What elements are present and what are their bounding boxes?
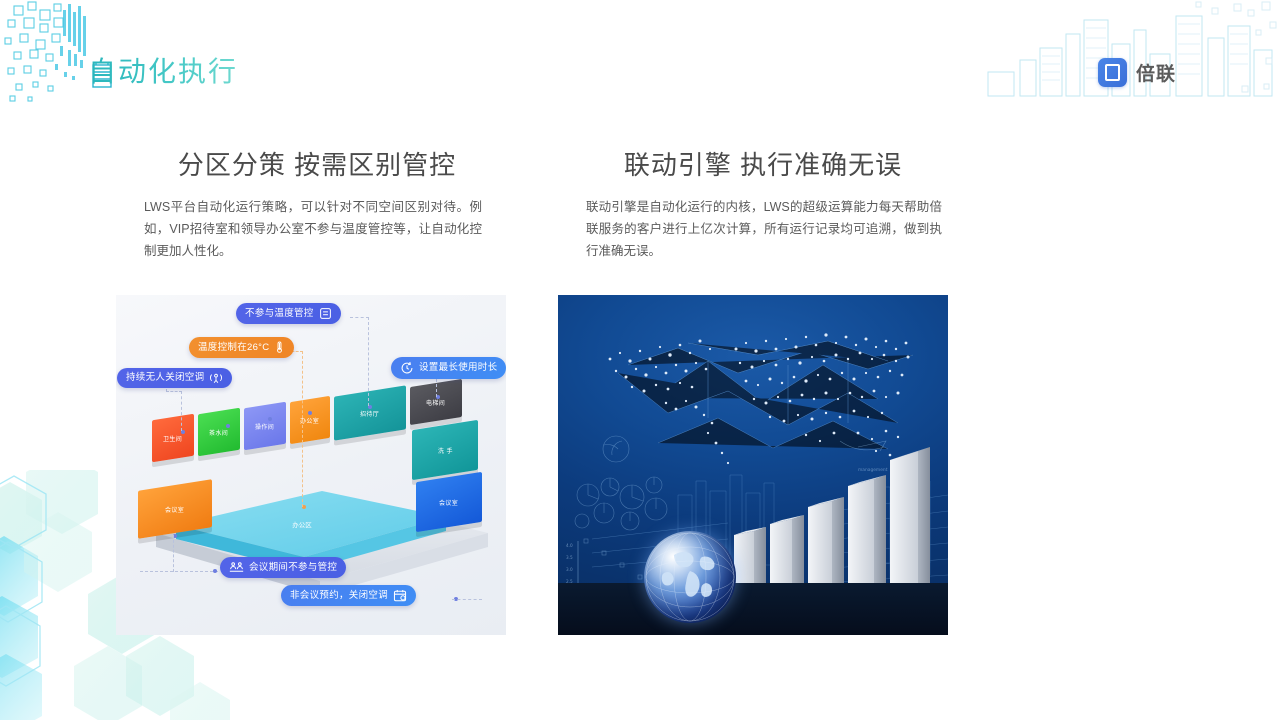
tag-no-booking-ac-off[interactable]: 非会议预约，关闭空调 [281,585,416,606]
tag-unattended-ac-off[interactable]: 持续无人关闭空调 [117,368,232,388]
floorplan-infographic: 办公区 卫生间 茶水间 操作间 办公室 招待厅 电梯间 洗 手 会议室 会议室 [116,295,506,635]
leader-line [166,391,182,392]
thermometer-icon [274,341,285,354]
tag-label: 非会议预约，关闭空调 [290,591,388,601]
tag-temperature-26c[interactable]: 温度控制在26°C [189,337,294,358]
tag-label: 设置最长使用时长 [419,363,497,373]
leader-line-orange [302,351,303,507]
meeting-icon [229,561,244,574]
tag-no-temperature-control[interactable]: 不参与温度管控 [236,303,341,324]
tag-label: 会议期间不参与管控 [249,563,337,573]
column-right-heading: 联动引擎 执行准确无误 [558,150,950,181]
motion-sensor-icon [209,372,223,384]
leader-line [452,599,482,600]
globe-3d [644,531,736,623]
photo-ground-plane [558,583,948,635]
column-left-heading: 分区分策 按需区别管控 [116,150,508,181]
global-data-network-photo: 4.03.53.0 2.52.01.5 1.0 management [558,295,948,635]
tag-label: 持续无人关闭空调 [126,373,204,383]
leader-dot [213,569,217,573]
tag-label: 不参与温度管控 [245,309,314,319]
room-label: 电梯间 [426,398,445,407]
leader-line [436,379,437,397]
column-right-body: 联动引擎是自动化运行的内核，LWS的超级运算能力每天帮助倍联服务的客户进行上亿次… [558,197,950,263]
svg-text:办公区: 办公区 [292,520,312,529]
room-label: 卫生间 [163,434,182,443]
tag-max-usage-time[interactable]: 设置最长使用时长 [391,357,506,379]
leader-dot [226,424,230,428]
brand-name: 倍联 [1136,59,1176,86]
page-title: 自动化执行 [88,50,238,90]
room-restroom: 卫生间 [152,414,194,463]
room-lobby: 洗 手 [412,420,478,480]
leader-line [173,535,174,572]
leader-line [368,317,369,406]
room-tearoom: 茶水间 [198,408,240,457]
column-right: 联动引擎 执行准确无误 联动引擎是自动化运行的内核，LWS的超级运算能力每天帮助… [558,150,950,263]
brand-logo: 倍联 [1098,58,1176,87]
room-meeting-right: 会议室 [416,472,482,532]
tag-meeting-exempt[interactable]: 会议期间不参与管控 [220,557,346,578]
column-left-body: LWS平台自动化运行策略，可以针对不同空间区别对待。例如，VIP招待室和领导办公… [116,197,508,263]
leader-dot [268,417,272,421]
calendar-icon [393,589,407,602]
square-logo-icon [1098,58,1127,87]
tag-label: 温度控制在26°C [198,343,269,353]
timer-icon [400,361,414,375]
leader-line [350,317,369,318]
room-label: 会议室 [439,498,458,507]
leader-dot [308,411,312,415]
page-header: 自动化执行 倍联 [0,0,1280,115]
room-office: 办公室 [290,396,330,444]
room-label: 操作间 [255,422,274,431]
room-operation: 操作间 [244,402,286,451]
document-list-icon [319,307,332,320]
leader-line [140,571,218,572]
column-left: 分区分策 按需区别管控 LWS平台自动化运行策略，可以针对不同空间区别对待。例如… [116,150,508,263]
leader-line [181,391,182,431]
room-label: 洗 手 [438,446,453,455]
room-label: 招待厅 [360,409,379,418]
room-label: 办公室 [300,416,319,425]
room-label: 茶水间 [209,428,228,437]
room-label: 会议室 [165,505,184,514]
